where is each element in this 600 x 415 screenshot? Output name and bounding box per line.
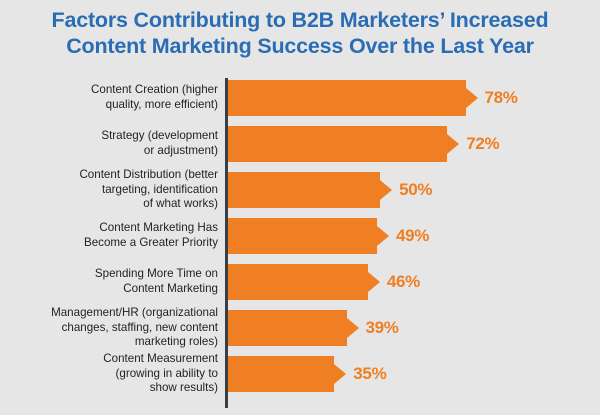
- bar-value-label: 78%: [485, 88, 518, 108]
- bar-arrowhead-icon: [447, 134, 459, 154]
- bar-arrowhead-icon: [347, 318, 359, 338]
- bar-arrowhead-icon: [377, 226, 389, 246]
- bar-arrowhead-icon: [334, 364, 346, 384]
- bar-row: Content Distribution (better targeting, …: [0, 172, 600, 208]
- bar-fill: [228, 126, 448, 162]
- bar-category-label: Spending More Time on Content Marketing: [8, 267, 218, 296]
- bar-category-label: Management/HR (organizational changes, s…: [8, 306, 218, 350]
- bar-category-label: Content Creation (higher quality, more e…: [8, 83, 218, 112]
- bar-arrowhead-icon: [368, 272, 380, 292]
- bar-category-label: Content Distribution (better targeting, …: [8, 168, 218, 212]
- bar-series-item[interactable]: 35%: [228, 356, 387, 392]
- bar-series-item[interactable]: 72%: [228, 126, 500, 162]
- bar-value-label: 50%: [399, 180, 432, 200]
- bar-category-label: Strategy (development or adjustment): [8, 129, 218, 158]
- bar-row: Content Creation (higher quality, more e…: [0, 80, 600, 116]
- bar-value-label: 46%: [387, 272, 420, 292]
- bar-fill: [228, 310, 347, 346]
- bar-row: Strategy (development or adjustment)72%: [0, 126, 600, 162]
- bar-fill: [228, 356, 335, 392]
- bar-arrowhead-icon: [380, 180, 392, 200]
- bar-value-label: 39%: [366, 318, 399, 338]
- bar-value-label: 49%: [396, 226, 429, 246]
- bar-series-item[interactable]: 78%: [228, 80, 518, 116]
- bar-value-label: 35%: [353, 364, 386, 384]
- bar-series-item[interactable]: 49%: [228, 218, 430, 254]
- bar-fill: [228, 80, 466, 116]
- bar-value-label: 72%: [466, 134, 499, 154]
- bar-row: Content Measurement (growing in ability …: [0, 356, 600, 392]
- bar-fill: [228, 218, 378, 254]
- bar-series-item[interactable]: 39%: [228, 310, 399, 346]
- bar-row: Management/HR (organizational changes, s…: [0, 310, 600, 346]
- bar-series-item[interactable]: 46%: [228, 264, 420, 300]
- bar-fill: [228, 172, 381, 208]
- bar-fill: [228, 264, 368, 300]
- page-title: Factors Contributing to B2B Marketers’ I…: [0, 7, 600, 59]
- bar-arrowhead-icon: [466, 88, 478, 108]
- chart-plot-area: Content Creation (higher quality, more e…: [0, 70, 600, 415]
- bar-row: Content Marketing Has Become a Greater P…: [0, 218, 600, 254]
- bar-series-item[interactable]: 50%: [228, 172, 433, 208]
- bar-category-label: Content Marketing Has Become a Greater P…: [8, 221, 218, 250]
- bar-category-label: Content Measurement (growing in ability …: [8, 352, 218, 396]
- bar-row: Spending More Time on Content Marketing4…: [0, 264, 600, 300]
